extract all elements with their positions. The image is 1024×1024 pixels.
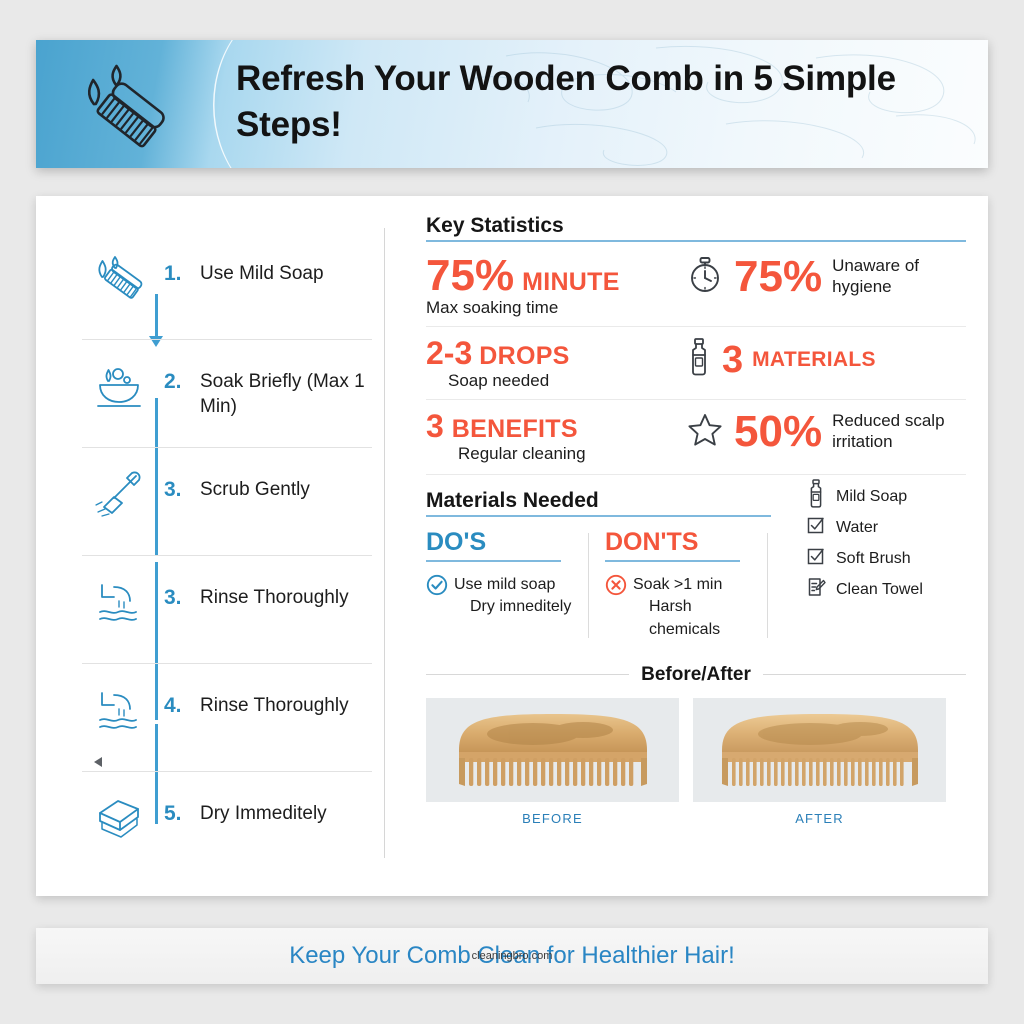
stat-value: 2-3 bbox=[426, 337, 472, 369]
star-icon bbox=[686, 411, 724, 454]
donts-line2: Harsh chemicals bbox=[633, 596, 755, 641]
main-card: 1. Use Mild Soap bbox=[36, 196, 988, 896]
stat-unit: MATERIALS bbox=[752, 348, 876, 372]
stat-description: Unaware of hygiene bbox=[832, 256, 942, 297]
material-item[interactable]: Mild Soap bbox=[806, 481, 966, 512]
before-after-section: Before/After bbox=[426, 664, 966, 826]
materials-needed-underline bbox=[426, 515, 771, 517]
material-item[interactable]: Water bbox=[806, 512, 966, 543]
before-caption: BEFORE bbox=[426, 811, 679, 826]
stat-row: 75% MINUTE Max soaking time bbox=[426, 242, 966, 327]
step-number: 2. bbox=[164, 370, 182, 394]
dos-line2: Dry imneditely bbox=[454, 596, 571, 619]
header-banner: Refresh Your Wooden Comb in 5 Simple Ste… bbox=[36, 40, 988, 168]
step-label: Use Mild Soap bbox=[200, 262, 385, 287]
step-label: Dry Immeditely bbox=[200, 802, 385, 827]
before-cell: BEFORE bbox=[426, 698, 679, 826]
material-item[interactable]: Clean Towel bbox=[806, 574, 966, 605]
material-item[interactable]: Soft Brush bbox=[806, 543, 966, 574]
step-item[interactable]: 3. Scrub Gently bbox=[60, 448, 380, 556]
dos-text: Use mild soap Dry imneditely bbox=[454, 574, 571, 619]
brush-icon bbox=[90, 468, 148, 520]
stat-value: 50% bbox=[734, 410, 822, 454]
material-label: Clean Towel bbox=[836, 581, 923, 599]
stat-unit: DROPS bbox=[479, 342, 569, 371]
stat-left: 75% MINUTE Max soaking time bbox=[426, 254, 686, 318]
stat-sublabel: Soap needed bbox=[426, 371, 686, 391]
right-column: Key Statistics 75% MINUTE Max soaking ti… bbox=[426, 214, 966, 826]
step-number: 3. bbox=[164, 478, 182, 502]
stat-right: 75% Unaware of hygiene bbox=[686, 254, 966, 299]
step-item[interactable]: 2. Soak Briefly (Max 1 Min) bbox=[60, 340, 380, 448]
donts-underline bbox=[605, 560, 740, 562]
step-number: 5. bbox=[164, 802, 182, 826]
material-label: Water bbox=[836, 519, 878, 537]
dos-line1: Use mild soap bbox=[454, 576, 555, 593]
dos-underline bbox=[426, 560, 561, 562]
checkbox-checked-icon bbox=[806, 546, 826, 571]
material-label: Mild Soap bbox=[836, 488, 907, 506]
faucet-water-icon bbox=[90, 684, 148, 736]
document-pen-icon bbox=[806, 576, 826, 603]
donts-list-divider bbox=[767, 533, 768, 638]
rule-left bbox=[426, 674, 629, 675]
key-statistics-title: Key Statistics bbox=[426, 214, 966, 238]
stat-right: 3 MATERIALS bbox=[686, 337, 966, 382]
step-item[interactable]: 1. Use Mild Soap bbox=[60, 232, 380, 340]
materials-needed-section: Materials Needed DO'S bbox=[426, 489, 966, 642]
stopwatch-icon bbox=[686, 254, 724, 299]
soap-bottle-icon bbox=[806, 479, 826, 514]
checkbox-checked-icon bbox=[806, 515, 826, 540]
key-statistics-section: Key Statistics 75% MINUTE Max soaking ti… bbox=[426, 214, 966, 475]
bowl-bubbles-icon bbox=[90, 360, 148, 412]
donts-line1: Soak >1 min bbox=[633, 576, 722, 593]
before-after-images: BEFORE bbox=[426, 698, 966, 826]
stat-unit: BENEFITS bbox=[452, 415, 578, 444]
wooden-comb-photo-after bbox=[693, 698, 946, 802]
materials-checklist: Mild Soap Water bbox=[806, 481, 966, 605]
faucet-water-icon bbox=[90, 576, 148, 628]
after-caption: AFTER bbox=[693, 811, 946, 826]
towel-stack-icon bbox=[90, 792, 148, 844]
stat-sublabel: Max soaking time bbox=[426, 298, 686, 318]
stat-left: 2-3 DROPS Soap needed bbox=[426, 337, 686, 391]
stat-value: 3 bbox=[722, 341, 743, 379]
stat-unit: MINUTE bbox=[522, 268, 620, 297]
comb-with-water-drops-icon bbox=[73, 58, 169, 150]
infographic-page: Refresh Your Wooden Comb in 5 Simple Ste… bbox=[0, 0, 1024, 1024]
step-item[interactable]: 5. Dry Immeditely bbox=[60, 772, 380, 880]
dos-items: Use mild soap Dry imneditely bbox=[426, 574, 576, 619]
header-icon-wrap bbox=[36, 40, 206, 168]
stat-value: 75% bbox=[426, 254, 514, 298]
stat-right: 50% Reduced scalp irritation bbox=[686, 410, 966, 454]
before-after-title: Before/After bbox=[629, 664, 763, 686]
stat-row: 3 BENEFITS Regular cleaning 50% Reduced … bbox=[426, 400, 966, 475]
step-number: 4. bbox=[164, 694, 182, 718]
comb-drops-icon bbox=[90, 252, 148, 304]
step-number: 1. bbox=[164, 262, 182, 286]
donts-items: Soak >1 min Harsh chemicals bbox=[605, 574, 755, 642]
step-label: Rinse Thoroughly bbox=[200, 694, 385, 719]
watermark: cleaningbro.com bbox=[472, 950, 553, 962]
check-circle-icon bbox=[426, 574, 448, 601]
stat-description: Reduced scalp irritation bbox=[832, 411, 962, 452]
stat-sublabel: Regular cleaning bbox=[426, 444, 686, 464]
header-title: Refresh Your Wooden Comb in 5 Simple Ste… bbox=[236, 56, 936, 148]
stat-value: 3 bbox=[426, 410, 444, 442]
after-cell: AFTER bbox=[693, 698, 946, 826]
wooden-comb-photo-before bbox=[426, 698, 679, 802]
x-circle-icon bbox=[605, 574, 627, 601]
dos-column: DO'S Use mild soap Dry im bbox=[426, 529, 588, 642]
step-item[interactable]: 3. Rinse Thoroughly bbox=[60, 556, 380, 664]
stat-row: 2-3 DROPS Soap needed bbox=[426, 327, 966, 400]
before-after-header: Before/After bbox=[426, 664, 966, 686]
step-label: Scrub Gently bbox=[200, 478, 385, 503]
soap-bottle-icon bbox=[686, 337, 712, 382]
stat-left: 3 BENEFITS Regular cleaning bbox=[426, 410, 686, 464]
material-label: Soft Brush bbox=[836, 550, 911, 568]
donts-column: DON'TS Soak >1 min Harsh bbox=[605, 529, 767, 642]
rule-right bbox=[763, 674, 966, 675]
steps-list: 1. Use Mild Soap bbox=[60, 232, 380, 880]
footer-bar: Keep Your Comb Clean for Healthier Hair!… bbox=[36, 928, 988, 984]
dos-donts-divider bbox=[588, 533, 589, 638]
column-divider bbox=[384, 228, 385, 858]
donts-text: Soak >1 min Harsh chemicals bbox=[633, 574, 755, 642]
dos-heading: DO'S bbox=[426, 529, 576, 557]
step-item[interactable]: 4. Rinse Thoroughly bbox=[60, 664, 380, 772]
donts-heading: DON'TS bbox=[605, 529, 755, 557]
step-number: 3. bbox=[164, 586, 182, 610]
step-label: Soak Briefly (Max 1 Min) bbox=[200, 370, 385, 419]
stat-value: 75% bbox=[734, 255, 822, 299]
step-label: Rinse Thoroughly bbox=[200, 586, 385, 611]
